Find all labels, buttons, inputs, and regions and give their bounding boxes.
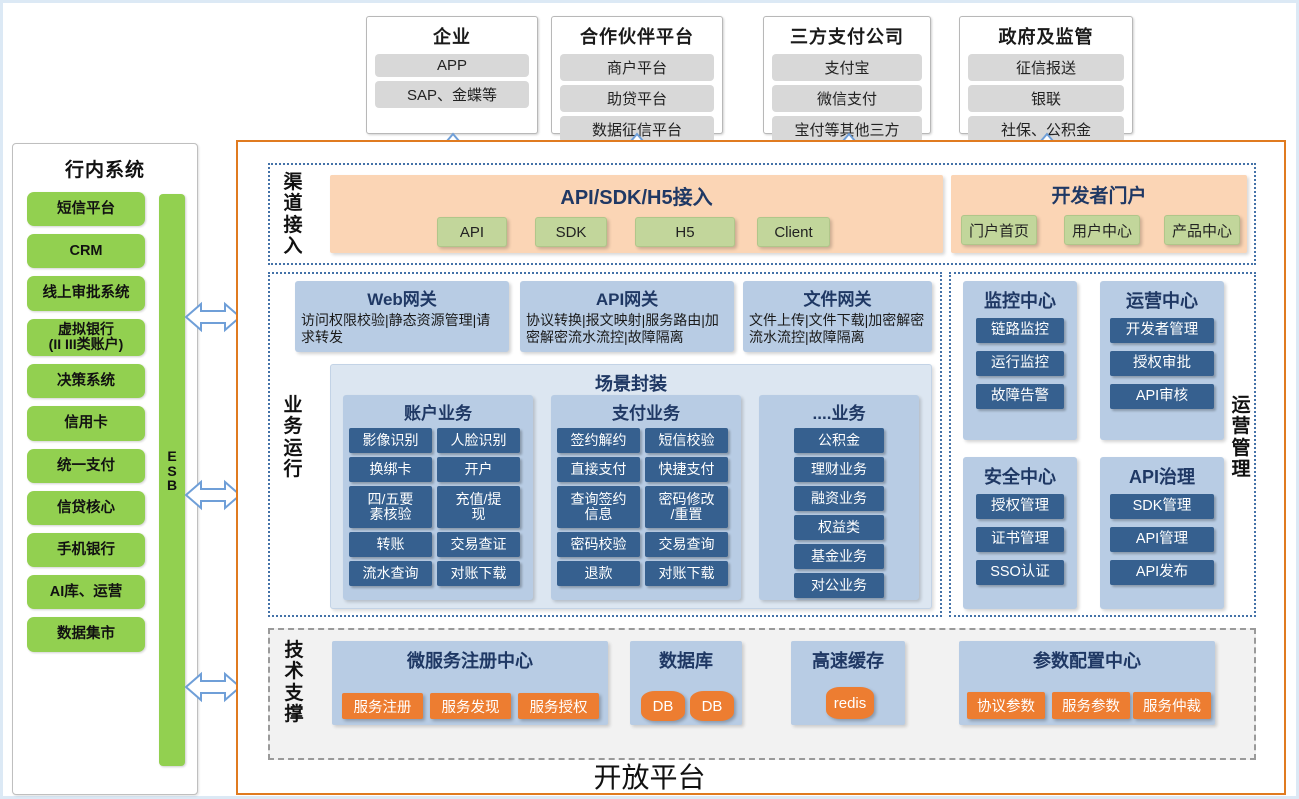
ops-panel-title: 安全中心	[963, 457, 1077, 494]
channel-chip-sdk[interactable]: SDK	[535, 217, 607, 247]
ops-panel-monitoring-center: 监控中心 链路监控 运行监控 故障告警	[963, 281, 1077, 440]
ops-chip[interactable]: 开发者管理	[1110, 318, 1214, 343]
tech-chip-service-register[interactable]: 服务注册	[342, 693, 423, 719]
scene-chip[interactable]: 对公业务	[794, 573, 884, 598]
ops-chip[interactable]: 运行监控	[976, 351, 1064, 376]
ops-panel-title: 监控中心	[963, 281, 1077, 318]
external-box-title: 企业	[375, 23, 529, 49]
external-item: SAP、金蝶等	[375, 81, 529, 108]
ops-chip[interactable]: API发布	[1110, 560, 1214, 585]
scene-encapsulation-title: 场景封装	[331, 365, 931, 396]
external-item: 征信报送	[968, 54, 1124, 81]
scene-chip[interactable]: 对账下载	[437, 561, 520, 586]
tech-support-band-label: 技术支撑	[281, 640, 307, 725]
scene-chip[interactable]: 充值/提现	[437, 486, 520, 528]
scene-chip[interactable]: 理财业务	[794, 457, 884, 482]
ops-chip[interactable]: SDK管理	[1110, 494, 1214, 519]
channel-chip-client[interactable]: Client	[757, 217, 830, 247]
ops-chip[interactable]: 故障告警	[976, 384, 1064, 409]
redis-cylinder-icon[interactable]: redis	[826, 687, 874, 719]
tech-chip-protocol-parameter[interactable]: 协议参数	[967, 692, 1045, 719]
bank-system-item[interactable]: 短信平台	[27, 192, 145, 226]
ops-chip[interactable]: API管理	[1110, 527, 1214, 552]
external-box-title: 三方支付公司	[772, 23, 922, 49]
gateway-card-file[interactable]: 文件网关 文件上传|文件下载|加密解密流水流控|故障隔离	[743, 281, 932, 352]
scene-column-chips: 影像识别 人脸识别 换绑卡 开户 四/五要素核验 充值/提现 转账 交易查证 流…	[343, 428, 533, 592]
scene-chip[interactable]: 退款	[557, 561, 640, 586]
gateway-card-web[interactable]: Web网关 访问权限校验|静态资源管理|请求转发	[295, 281, 509, 352]
developer-portal-title: 开发者门户	[951, 181, 1247, 208]
tech-chip-service-authorization[interactable]: 服务授权	[518, 693, 599, 719]
scene-chip[interactable]: 影像识别	[349, 428, 432, 453]
gateway-card-api[interactable]: API网关 协议转换|报文映射|服务路由|加密解密流水流控|故障隔离	[520, 281, 734, 352]
gateway-desc: 协议转换|报文映射|服务路由|加密解密流水流控|故障隔离	[526, 312, 728, 345]
scene-chip[interactable]: 对账下载	[645, 561, 728, 586]
db-cylinder-icon[interactable]: DB	[641, 691, 685, 721]
gateway-title: Web网关	[301, 285, 503, 310]
esb-bus: ESB	[159, 194, 185, 766]
ops-chip[interactable]: 授权管理	[976, 494, 1064, 519]
ops-panel-operations-center: 运营中心 开发者管理 授权审批 API审核	[1100, 281, 1224, 440]
portal-chip-home[interactable]: 门户首页	[961, 215, 1037, 245]
bidirectional-arrow-icon	[184, 478, 242, 512]
scene-column-payment-business: 支付业务 签约解约 短信校验 直接支付 快捷支付 查询签约信息 密码修改/重置 …	[551, 395, 741, 600]
scene-chip[interactable]: 四/五要素核验	[349, 486, 432, 528]
tech-chip-service-arbitration[interactable]: 服务仲裁	[1133, 692, 1211, 719]
scene-chip[interactable]: 交易查证	[437, 532, 520, 557]
scene-column-account-business: 账户业务 影像识别 人脸识别 换绑卡 开户 四/五要素核验 充值/提现 转账 交…	[343, 395, 533, 600]
bank-system-item[interactable]: 统一支付	[27, 449, 145, 483]
bank-system-item[interactable]: CRM	[27, 234, 145, 268]
bank-panel-title: 行内系统	[13, 155, 197, 182]
esb-label: ESB	[159, 449, 185, 493]
ops-panel-title: API治理	[1100, 457, 1224, 494]
gateway-desc: 访问权限校验|静态资源管理|请求转发	[301, 312, 503, 345]
ops-chip[interactable]: 授权审批	[1110, 351, 1214, 376]
bank-system-item[interactable]: 数据集市	[27, 617, 145, 651]
bank-system-item[interactable]: 线上审批系统	[27, 276, 145, 310]
scene-chip[interactable]: 短信校验	[645, 428, 728, 453]
external-box-enterprise: 企业 APP SAP、金蝶等	[366, 16, 538, 134]
channel-chip-h5[interactable]: H5	[635, 217, 735, 247]
external-item: APP	[375, 54, 529, 77]
bank-system-item[interactable]: 信贷核心	[27, 491, 145, 525]
ops-chip[interactable]: 证书管理	[976, 527, 1064, 552]
tech-panel-title: 微服务注册中心	[332, 641, 608, 673]
ops-chip[interactable]: 链路监控	[976, 318, 1064, 343]
scene-chip[interactable]: 直接支付	[557, 457, 640, 482]
channel-chip-api[interactable]: API	[437, 217, 507, 247]
tech-panel-title: 高速缓存	[791, 641, 905, 673]
external-box-partner-platform: 合作伙伴平台 商户平台 助贷平台 数据征信平台	[551, 16, 723, 134]
scene-chip[interactable]: 快捷支付	[645, 457, 728, 482]
tech-chip-service-discovery[interactable]: 服务发现	[430, 693, 511, 719]
scene-chip[interactable]: 人脸识别	[437, 428, 520, 453]
tech-chip-service-parameter[interactable]: 服务参数	[1052, 692, 1130, 719]
tech-panel-title: 数据库	[630, 641, 742, 673]
bank-internal-systems-panel: 行内系统 短信平台 CRM 线上审批系统 虚拟银行(II III类账户) 决策系…	[12, 143, 198, 795]
scene-chip[interactable]: 公积金	[794, 428, 884, 453]
scene-column-title: 支付业务	[551, 395, 741, 428]
bidirectional-arrow-icon	[184, 300, 242, 334]
external-item: 支付宝	[772, 54, 922, 81]
api-sdk-h5-access-title: API/SDK/H5接入	[330, 181, 943, 210]
operation-management-label: 运营管理	[1229, 395, 1253, 480]
scene-chip[interactable]: 权益类	[794, 515, 884, 540]
bidirectional-arrow-icon	[184, 670, 242, 704]
bank-system-item[interactable]: 信用卡	[27, 406, 145, 440]
external-item: 银联	[968, 85, 1124, 112]
ops-chip[interactable]: SSO认证	[976, 560, 1064, 585]
scene-chip[interactable]: 密码校验	[557, 532, 640, 557]
scene-chip[interactable]: 密码修改/重置	[645, 486, 728, 528]
channel-access-band-label: 渠道接入	[280, 172, 306, 257]
gateway-title: API网关	[526, 285, 728, 310]
scene-column-chips: 签约解约 短信校验 直接支付 快捷支付 查询签约信息 密码修改/重置 密码校验 …	[551, 428, 741, 592]
bank-system-item[interactable]: 虚拟银行(II III类账户)	[27, 319, 145, 356]
scene-column-title: ....业务	[759, 395, 919, 428]
portal-chip-product-center[interactable]: 产品中心	[1164, 215, 1240, 245]
scene-chip[interactable]: 基金业务	[794, 544, 884, 569]
external-box-title: 政府及监管	[968, 23, 1124, 49]
external-item: 助贷平台	[560, 85, 714, 112]
scene-chip[interactable]: 转账	[349, 532, 432, 557]
scene-column-other-business: ....业务 公积金 理财业务 融资业务 权益类 基金业务 对公业务	[759, 395, 919, 600]
scene-column-chips: 公积金 理财业务 融资业务 权益类 基金业务 对公业务	[759, 428, 919, 608]
bank-system-item[interactable]: 手机银行	[27, 533, 145, 567]
external-box-government-regulator: 政府及监管 征信报送 银联 社保、公积金	[959, 16, 1133, 134]
business-running-label: 业务运行	[281, 395, 305, 480]
tech-panel-title: 参数配置中心	[959, 641, 1215, 673]
bank-system-item[interactable]: AI库、运营	[27, 575, 145, 609]
scene-chip[interactable]: 流水查询	[349, 561, 432, 586]
ops-panel-title: 运营中心	[1100, 281, 1224, 318]
scene-chip[interactable]: 交易查询	[645, 532, 728, 557]
external-item: 微信支付	[772, 85, 922, 112]
scene-chip[interactable]: 开户	[437, 457, 520, 482]
bank-system-item[interactable]: 决策系统	[27, 364, 145, 398]
external-item: 商户平台	[560, 54, 714, 81]
external-box-title: 合作伙伴平台	[560, 23, 714, 49]
scene-chip[interactable]: 签约解约	[557, 428, 640, 453]
portal-chip-user-center[interactable]: 用户中心	[1064, 215, 1140, 245]
bank-system-list: 短信平台 CRM 线上审批系统 虚拟银行(II III类账户) 决策系统 信用卡…	[27, 192, 145, 660]
ops-panel-api-governance: API治理 SDK管理 API管理 API发布	[1100, 457, 1224, 609]
scene-column-title: 账户业务	[343, 395, 533, 428]
scene-chip[interactable]: 查询签约信息	[557, 486, 640, 528]
gateway-desc: 文件上传|文件下载|加密解密流水流控|故障隔离	[749, 312, 926, 345]
ops-chip[interactable]: API审核	[1110, 384, 1214, 409]
gateway-title: 文件网关	[749, 285, 926, 310]
external-box-third-party-payment: 三方支付公司 支付宝 微信支付 宝付等其他三方	[763, 16, 931, 134]
page-title: 开放平台	[0, 756, 1299, 796]
ops-panel-security-center: 安全中心 授权管理 证书管理 SSO认证	[963, 457, 1077, 609]
scene-chip[interactable]: 换绑卡	[349, 457, 432, 482]
scene-chip[interactable]: 融资业务	[794, 486, 884, 511]
db-cylinder-icon[interactable]: DB	[690, 691, 734, 721]
